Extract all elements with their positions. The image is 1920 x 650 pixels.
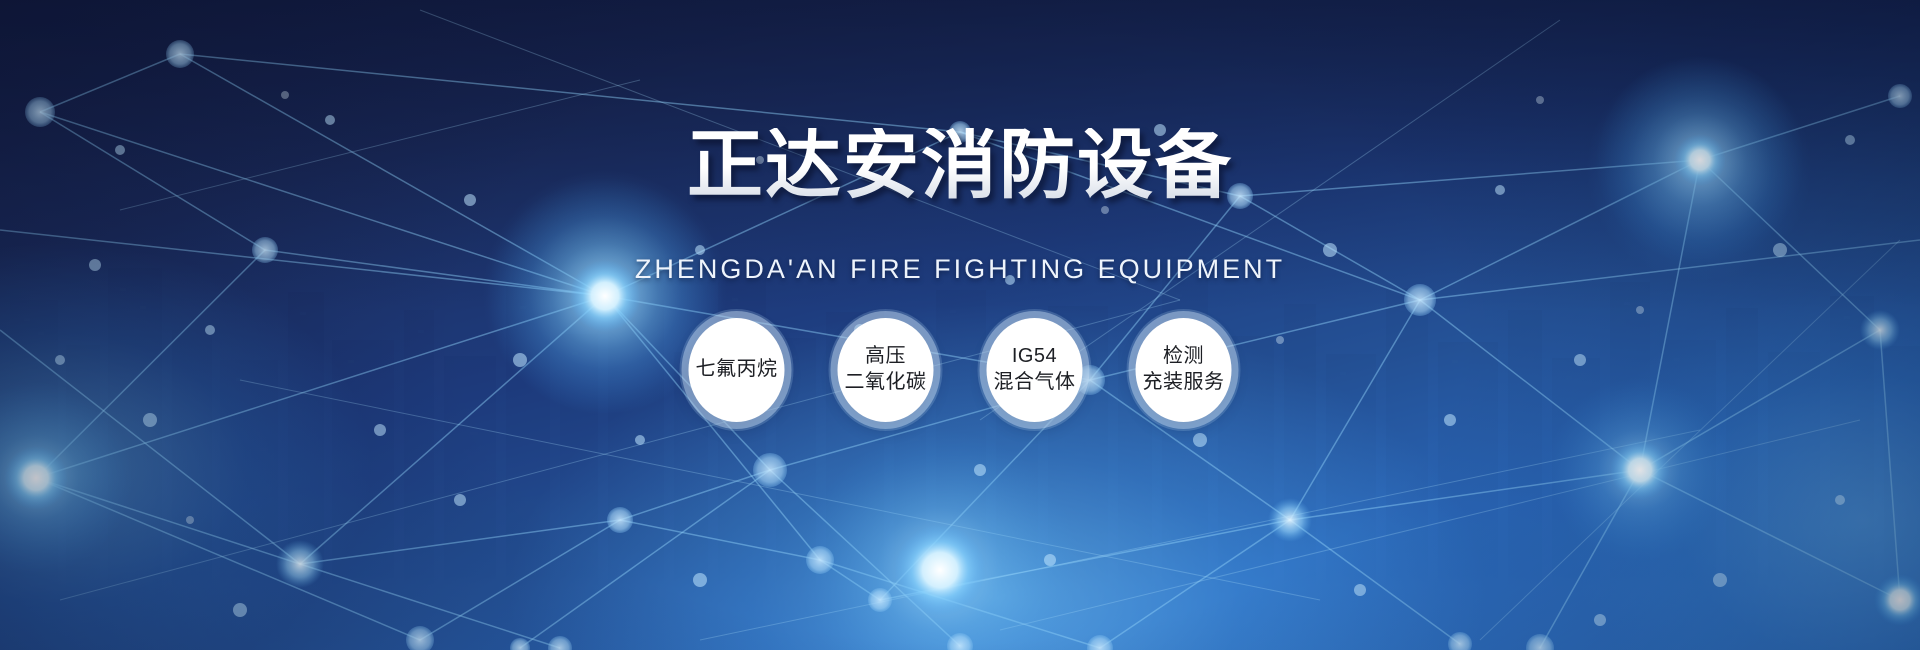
badge-line-1: IG54: [1012, 344, 1057, 370]
product-badge-list: 七氟丙烷 高压 二氧化碳 IG54 混合气体 检测 充装服务: [689, 318, 1232, 422]
badge-ig54-mixed-gas[interactable]: IG54 混合气体: [987, 318, 1083, 422]
badge-line-2: 二氧化碳: [845, 370, 927, 396]
badge-line-1: 七氟丙烷: [696, 357, 778, 383]
badge-inspection-filling-service[interactable]: 检测 充装服务: [1136, 318, 1232, 422]
banner-title: 正达安消防设备: [0, 128, 1920, 204]
hero-banner: 正达安消防设备 ZHENGDA'AN FIRE FIGHTING EQUIPME…: [0, 0, 1920, 650]
badge-line-1: 高压: [865, 344, 906, 370]
badge-line-2: 充装服务: [1143, 370, 1225, 396]
banner-content: 正达安消防设备 ZHENGDA'AN FIRE FIGHTING EQUIPME…: [0, 0, 1920, 650]
badge-line-2: 混合气体: [994, 370, 1076, 396]
badge-high-pressure-co2[interactable]: 高压 二氧化碳: [838, 318, 934, 422]
badge-heptafluoropropane[interactable]: 七氟丙烷: [689, 318, 785, 422]
banner-subtitle: ZHENGDA'AN FIRE FIGHTING EQUIPMENT: [0, 256, 1920, 283]
badge-line-1: 检测: [1163, 344, 1204, 370]
